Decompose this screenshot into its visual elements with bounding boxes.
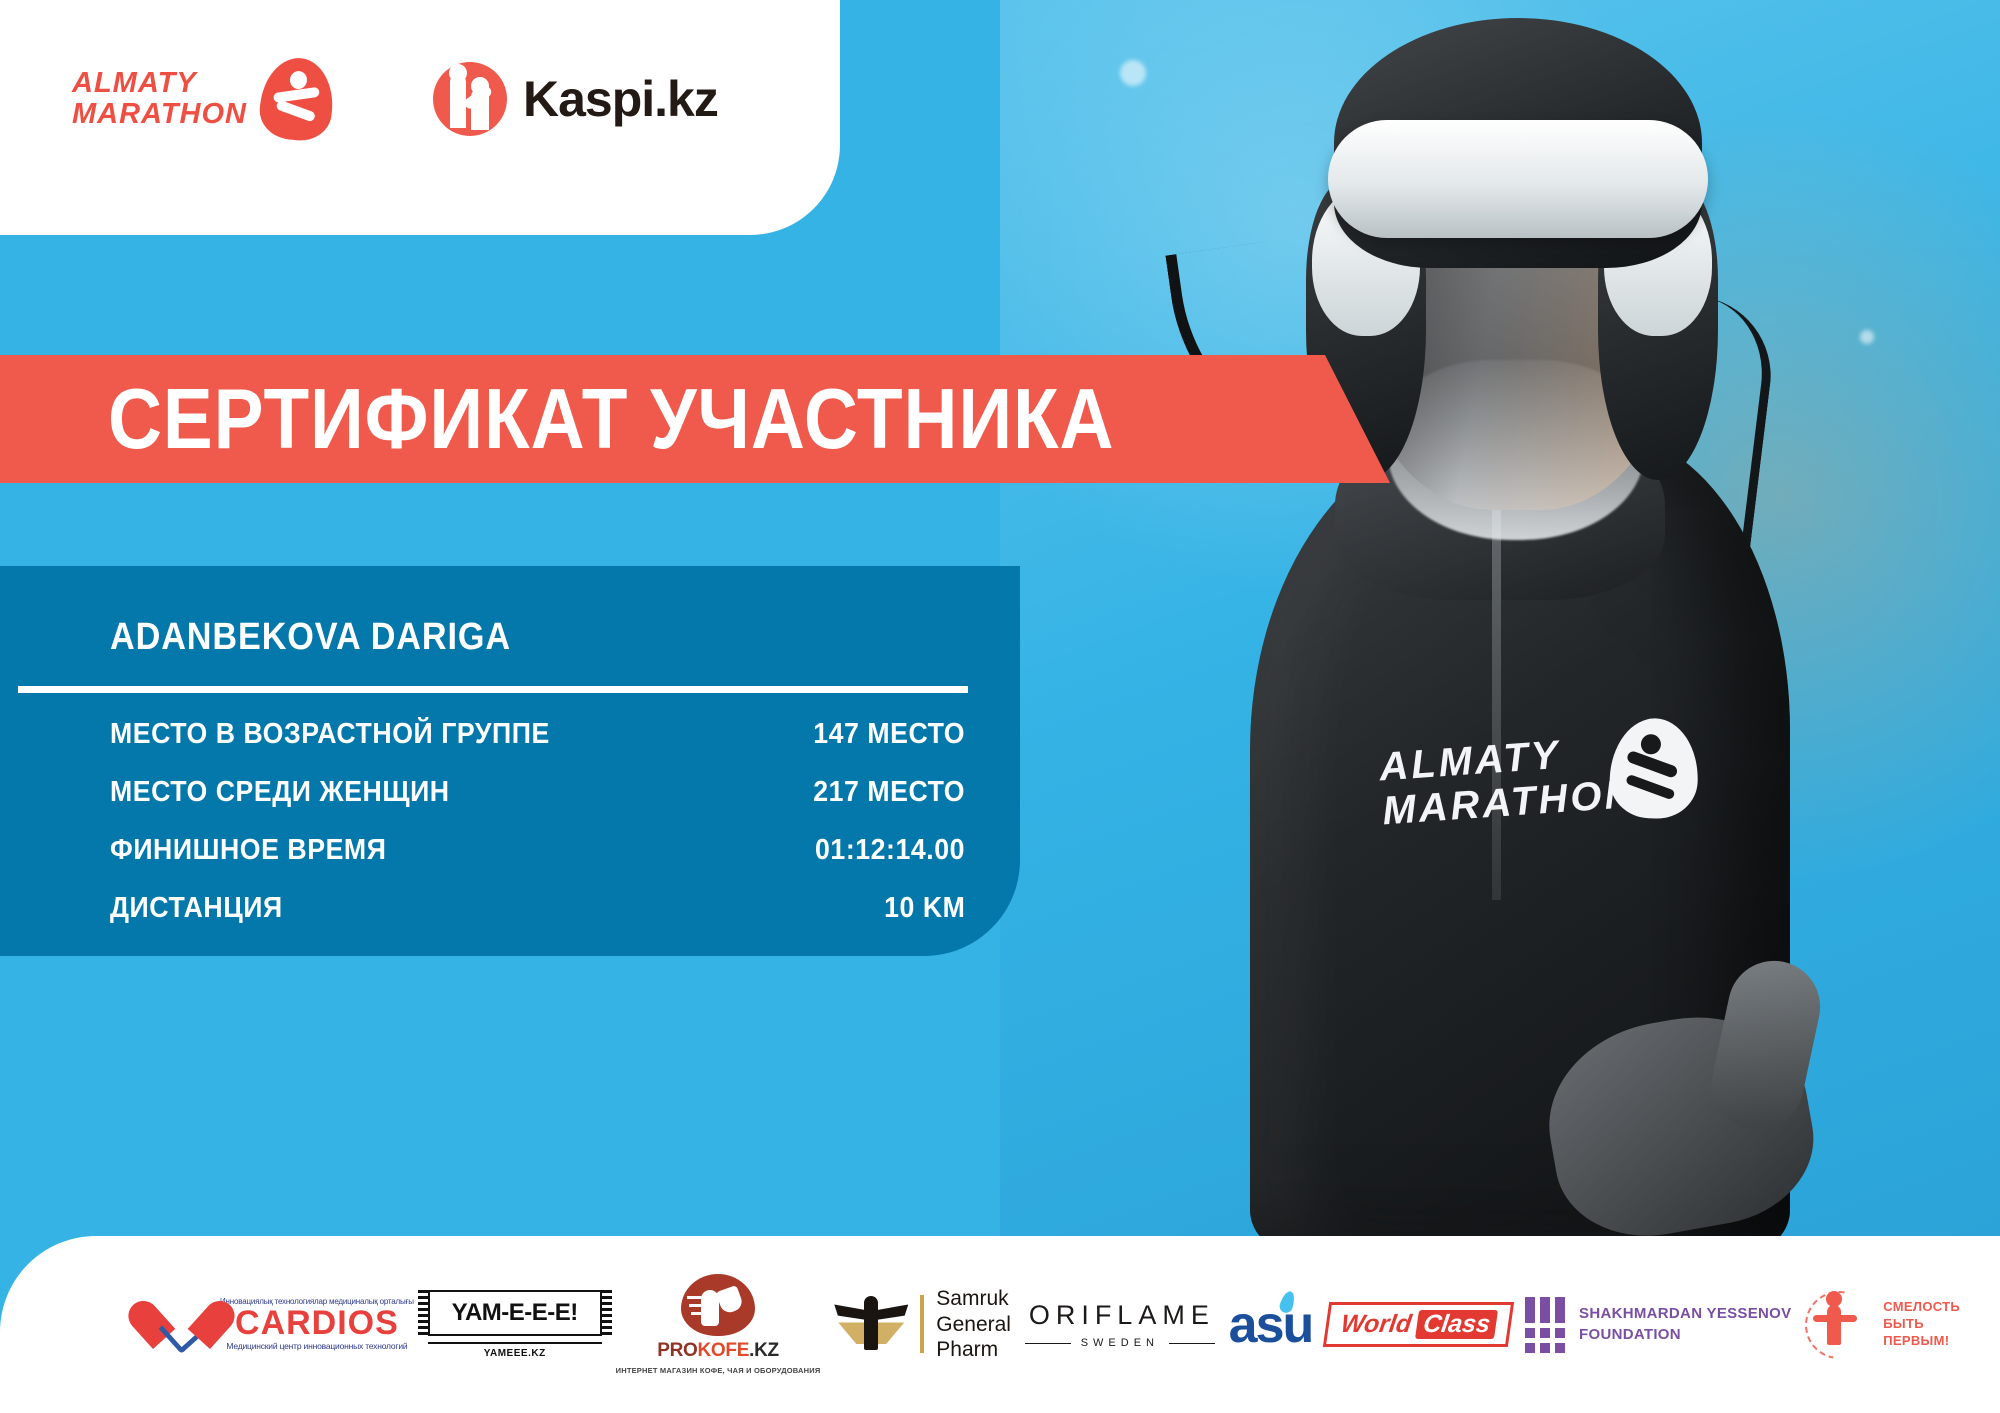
prokofe-tagline: ИНТЕРНЕТ МАГАЗИН КОФЕ, ЧАЯ И ОБОРУДОВАНИ… (616, 1366, 821, 1375)
divider (1169, 1343, 1215, 1344)
result-value: 01:12:14.00 (815, 834, 965, 867)
results-panel: ADANBEKOVA DARIGA МЕСТО В ВОЗРАСТНОЙ ГРУ… (0, 566, 1020, 956)
samruk-line1: Samruk (936, 1286, 1011, 1312)
smelost-line2: БЫТЬ (1883, 1316, 1960, 1333)
bars-icon (1525, 1297, 1565, 1353)
worldclass-part2: Class (1415, 1310, 1498, 1339)
hat-fur-brim (1328, 120, 1708, 238)
divider (1025, 1343, 1071, 1344)
certificate-title-band: СЕРТИФИКАТ УЧАСТНИКА (0, 355, 1390, 483)
chest-almaty-marathon-logo: ALMATY MARATHON (1378, 725, 1686, 876)
sponsor-logo-yessenov-foundation: SHAKHMARDAN YESSENOV FOUNDATION (1525, 1297, 1791, 1353)
almaty-marathon-logo: ALMATY MARATHON (72, 58, 333, 140)
asu-wordmark: asu (1229, 1295, 1313, 1355)
participant-certificate: ALMATY MARATHON ALMATY MARATHON (0, 0, 2000, 1413)
coffee-runner-icon (681, 1274, 755, 1336)
sponsor-logo-asu: asu (1229, 1295, 1313, 1355)
kaspi-logo[interactable]: Kaspi.kz (433, 62, 718, 136)
table-row: ФИНИШНОЕ ВРЕМЯ 01:12:14.00 (110, 834, 965, 867)
prokofe-part3: .KZ (749, 1340, 779, 1361)
sponsor-logo-oriflame: ORIFLAME SWEDEN (1025, 1300, 1215, 1349)
results-table: МЕСТО В ВОЗРАСТНОЙ ГРУППЕ 147 МЕСТО МЕСТ… (110, 718, 965, 950)
almaty-marathon-line1: ALMATY (72, 68, 247, 99)
athlete-name: ADANBEKOVA DARIGA (110, 616, 511, 659)
samruk-line3: Pharm (936, 1337, 1011, 1363)
yameee-url: YAMEEE.KZ (428, 1342, 602, 1359)
smelost-line1: СМЕЛОСТЬ (1883, 1299, 1960, 1316)
header-card: ALMATY MARATHON Kaspi.kz (0, 0, 840, 235)
kaspi-wordmark: Kaspi.kz (523, 70, 718, 128)
sponsors-footer: Инновациялық технологиялар медициналық о… (0, 1236, 2000, 1413)
prokofe-part1: PRO (657, 1340, 697, 1361)
table-row: МЕСТО СРЕДИ ЖЕНЩИН 217 МЕСТО (110, 776, 965, 809)
divider (18, 686, 968, 693)
result-label: ФИНИШНОЕ ВРЕМЯ (110, 834, 386, 867)
sponsor-logo-samruk-general-pharm: Samruk General Pharm (834, 1286, 1011, 1363)
two-people-circle-icon (433, 62, 507, 136)
oriflame-wordmark: ORIFLAME (1025, 1300, 1215, 1331)
runner-figure: ALMATY MARATHON (1120, 0, 1880, 1240)
yessenov-line1: SHAKHMARDAN YESSENOV (1579, 1304, 1791, 1324)
almaty-marathon-line2: MARATHON (72, 99, 247, 130)
page-title: СЕРТИФИКАТ УЧАСТНИКА (108, 377, 1114, 462)
result-value: 217 МЕСТО (813, 776, 965, 809)
worldclass-part1: World (1339, 1310, 1413, 1339)
cardios-russian-tagline: Медицинский центр инновационных технолог… (220, 1342, 414, 1351)
prokofe-part2: KOFE (698, 1340, 750, 1361)
asu-text: asu (1229, 1296, 1313, 1354)
yessenov-line2: FOUNDATION (1579, 1325, 1791, 1345)
yameee-wordmark: YAM-E-E-E! (452, 1299, 578, 1326)
sponsors-row: Инновациялық технологиялар медициналық о… (150, 1236, 1960, 1413)
divider (920, 1295, 924, 1353)
samruk-line2: General (936, 1312, 1011, 1338)
table-row: МЕСТО В ВОЗРАСТНОЙ ГРУППЕ 147 МЕСТО (110, 718, 965, 751)
falcon-icon (834, 1292, 908, 1356)
result-label: МЕСТО В ВОЗРАСТНОЙ ГРУППЕ (110, 718, 550, 751)
sponsor-logo-prokofe: PROKOFE.KZ ИНТЕРНЕТ МАГАЗИН КОФЕ, ЧАЯ И … (616, 1274, 821, 1375)
result-value: 147 МЕСТО (813, 718, 965, 751)
table-row: ДИСТАНЦИЯ 10 KM (110, 892, 965, 925)
sponsor-logo-cardios: Инновациялық технологиялар медициналық о… (150, 1297, 414, 1353)
runner-drop-icon (257, 54, 337, 143)
result-label: ДИСТАНЦИЯ (110, 892, 283, 925)
result-label: МЕСТО СРЕДИ ЖЕНЩИН (110, 776, 450, 809)
oriflame-sub: SWEDEN (1081, 1337, 1159, 1349)
almaty-marathon-wordmark: ALMATY MARATHON (72, 68, 247, 130)
sponsor-logo-yameee: YAM-E-E-E! YAMEEE.KZ (428, 1290, 602, 1359)
smelost-line3: ПЕРВЫМ! (1883, 1333, 1960, 1350)
candy-wrapper-icon: YAM-E-E-E! (428, 1290, 602, 1336)
result-value: 10 KM (884, 892, 965, 925)
heart-check-icon (150, 1297, 212, 1353)
person-star-arc-icon (1805, 1291, 1873, 1359)
athlete-photo: ALMATY MARATHON (1000, 0, 2000, 1240)
header-logos: ALMATY MARATHON Kaspi.kz (72, 58, 718, 140)
sponsor-logo-world-class: World Class (1326, 1302, 1511, 1347)
cardios-wordmark: CARDIOS (220, 1306, 414, 1342)
sponsor-logo-smelost-byt-pervym: СМЕЛОСТЬ БЫТЬ ПЕРВЫМ! (1805, 1291, 1960, 1359)
